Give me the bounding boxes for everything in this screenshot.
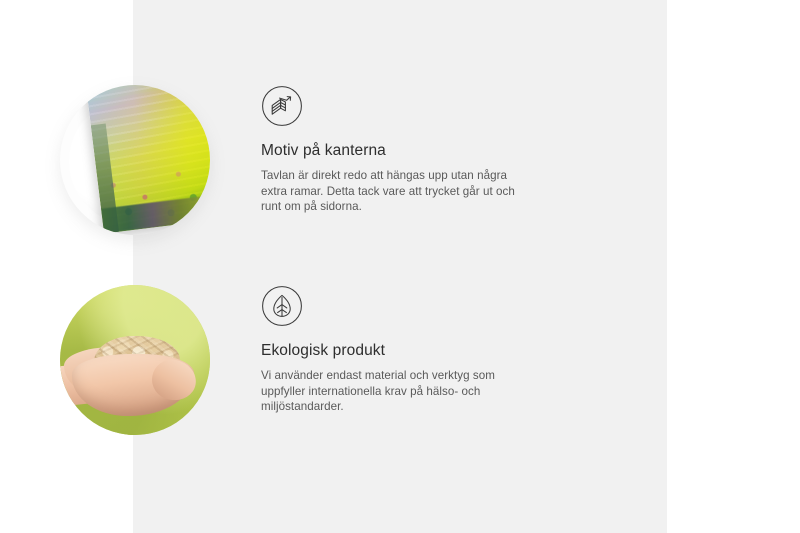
wood-chips-photo (60, 285, 210, 435)
canvas-print-photo (60, 85, 210, 235)
canvas-print-slab (85, 85, 210, 234)
canvas-print-photo-wrapper (60, 85, 210, 235)
feature-text-eco-product: Ekologisk produkt Vi använder endast mat… (261, 285, 529, 415)
feature-item-canvas-edges: Motiv på kanterna Tavlan är direkt redo … (60, 85, 529, 235)
feature-description: Vi använder endast material och verktyg … (261, 368, 529, 415)
feature-description: Tavlan är direkt redo att hängas upp uta… (261, 168, 529, 215)
content-panel (133, 0, 667, 533)
feature-title: Motiv på kanterna (261, 141, 529, 161)
canvas-print-bottom-edge (101, 191, 210, 234)
product-feature-banner: Motiv på kanterna Tavlan är direkt redo … (0, 0, 800, 533)
leaf-icon (261, 285, 303, 327)
feature-item-eco-product: Ekologisk produkt Vi använder endast mat… (60, 285, 529, 435)
feature-title: Ekologisk produkt (261, 341, 529, 361)
canvas-wrapped-edge-icon (261, 85, 303, 127)
feature-text-canvas-edges: Motiv på kanterna Tavlan är direkt redo … (261, 85, 529, 215)
wood-chips-photo-wrapper (60, 285, 210, 435)
